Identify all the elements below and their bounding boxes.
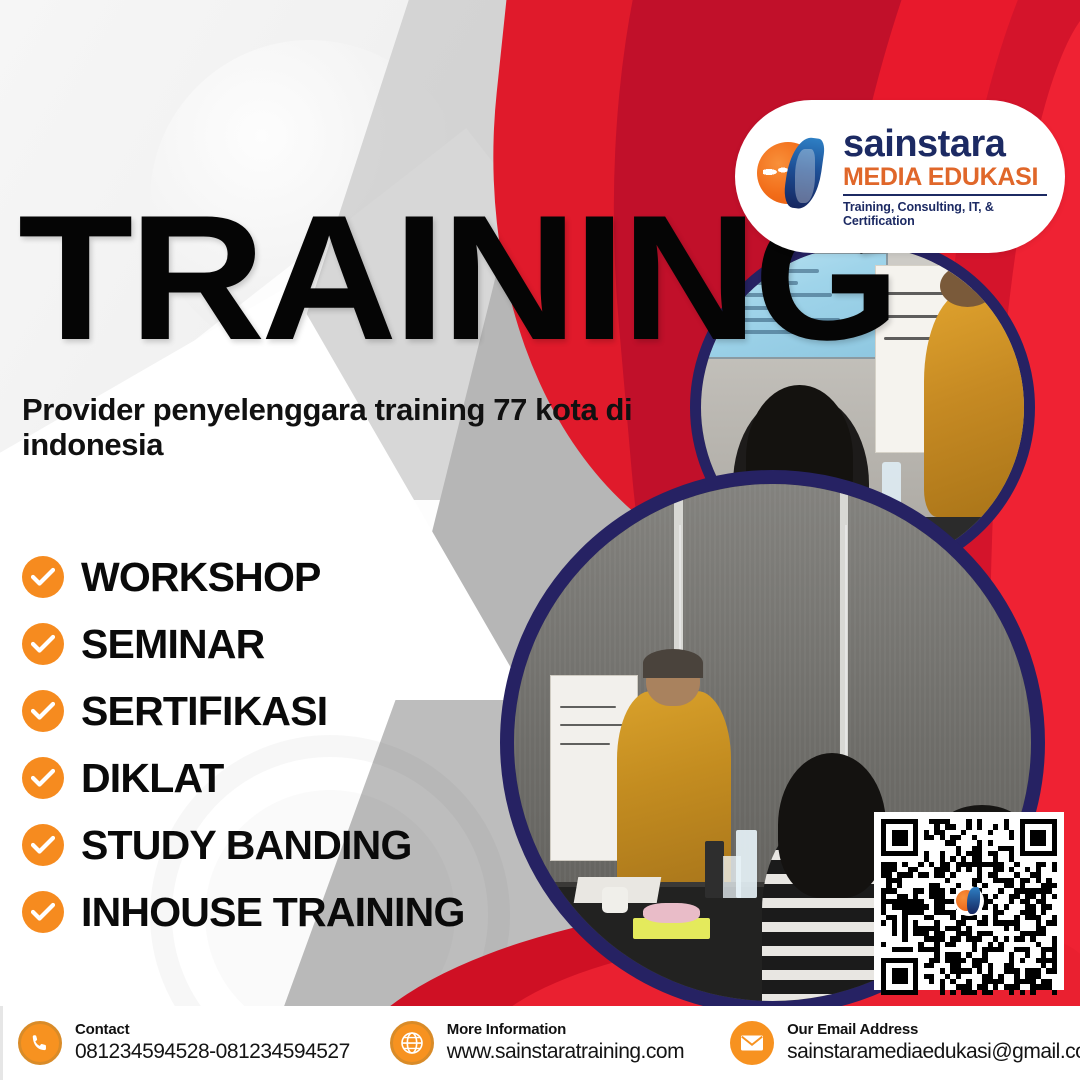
services-list: WORKSHOP SEMINAR SERTIFIKASI DIKLAT STUD… (22, 552, 465, 954)
footer-label: Contact (75, 1022, 350, 1039)
list-item: INHOUSE TRAINING (22, 887, 465, 937)
brand-logo[interactable]: sainstara MEDIA EDUKASI Training, Consul… (735, 100, 1065, 253)
poster-canvas: sainstara MEDIA EDUKASI Training, Consul… (0, 0, 1080, 1080)
phone-icon (18, 1021, 62, 1065)
logo-subtitle: MEDIA EDUKASI (843, 164, 1047, 197)
logo-name: sainstara (843, 125, 1047, 164)
footer-contact-website[interactable]: More Information www.sainstaratraining.c… (390, 1006, 684, 1080)
footer-contact-email[interactable]: Our Email Address sainstaramediaedukasi@… (730, 1006, 1080, 1080)
list-item-label: INHOUSE TRAINING (81, 889, 465, 936)
envelope-icon (730, 1021, 774, 1065)
list-item-label: SEMINAR (81, 621, 264, 668)
check-circle-icon (22, 556, 64, 598)
page-subtitle: Provider penyelenggara training 77 kota … (22, 392, 682, 463)
check-circle-icon (22, 623, 64, 665)
footer-value: 081234594528-081234594527 (75, 1040, 350, 1064)
qr-code[interactable] (874, 812, 1064, 990)
footer-label: Our Email Address (787, 1022, 1080, 1039)
check-circle-icon (22, 824, 64, 866)
list-item-label: WORKSHOP (81, 554, 321, 601)
footer-left-edge (0, 1006, 3, 1080)
list-item: DIKLAT (22, 753, 465, 803)
list-item: SERTIFIKASI (22, 686, 465, 736)
sainstara-logo-icon (757, 139, 833, 215)
list-item-label: SERTIFIKASI (81, 688, 327, 735)
check-circle-icon (22, 757, 64, 799)
sainstara-logo-icon (954, 886, 984, 916)
footer-label: More Information (447, 1022, 684, 1039)
list-item: SEMINAR (22, 619, 465, 669)
logo-tagline: Training, Consulting, IT, & Certificatio… (843, 200, 1047, 228)
footer-value: sainstaramediaedukasi@gmail.com (787, 1040, 1080, 1064)
list-item: STUDY BANDING (22, 820, 465, 870)
footer-value: www.sainstaratraining.com (447, 1040, 684, 1064)
contact-footer: Contact 081234594528-081234594527 More I… (0, 1006, 1080, 1080)
footer-contact-phone[interactable]: Contact 081234594528-081234594527 (18, 1006, 350, 1080)
list-item: WORKSHOP (22, 552, 465, 602)
list-item-label: STUDY BANDING (81, 822, 412, 869)
list-item-label: DIKLAT (81, 755, 223, 802)
globe-icon (390, 1021, 434, 1065)
check-circle-icon (22, 891, 64, 933)
check-circle-icon (22, 690, 64, 732)
